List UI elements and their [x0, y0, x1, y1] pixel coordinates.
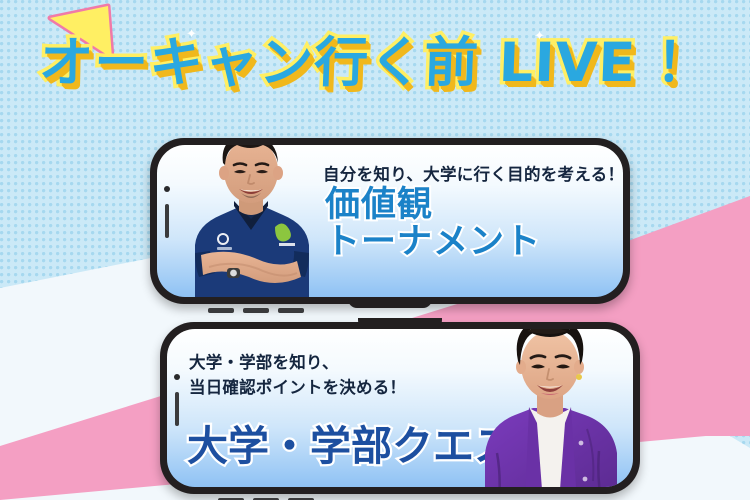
phone1-screen: 自分を知り、大学に行く目的を考える！ 価値観 トーナメント: [157, 145, 623, 297]
card1-title-line2: トーナメント: [325, 224, 541, 261]
presenter-photo-female: [467, 329, 627, 487]
phone2-speaker-icon: [175, 392, 179, 426]
sparkle-icon-left: ✦: [186, 26, 197, 42]
phone1-camera-icon: [164, 186, 170, 192]
presenter-photo-male: [179, 145, 321, 297]
card1-title-line1: 価値観: [325, 187, 541, 224]
sparkle-icon-right: ✦: [534, 28, 545, 44]
phone1-bottom-buttons: [208, 308, 304, 313]
promo-banner: オーキャン行く前 LIVE ！ ✦ ✦: [0, 0, 750, 500]
card2-subtitle: 大学・学部を知り、 当日確認ポイントを決める！: [189, 351, 406, 401]
phone-card-2[interactable]: 大学・学部を知り、 当日確認ポイントを決める！ 大学・学部クエスト: [160, 322, 640, 494]
card2-subtitle-line1: 大学・学部を知り、: [189, 351, 406, 376]
phone1-speaker-icon: [165, 204, 169, 238]
card1-subtitle: 自分を知り、大学に行く目的を考える！: [323, 161, 623, 185]
phone-card-1[interactable]: 自分を知り、大学に行く目的を考える！ 価値観 トーナメント: [150, 138, 630, 304]
phone2-screen: 大学・学部を知り、 当日確認ポイントを決める！ 大学・学部クエスト: [167, 329, 633, 487]
card2-subtitle-line2: 当日確認ポイントを決める！: [189, 376, 406, 401]
phone2-camera-icon: [174, 374, 180, 380]
banner-headline: オーキャン行く前 LIVE ！: [0, 36, 750, 90]
card1-title: 価値観 トーナメント: [325, 187, 541, 262]
